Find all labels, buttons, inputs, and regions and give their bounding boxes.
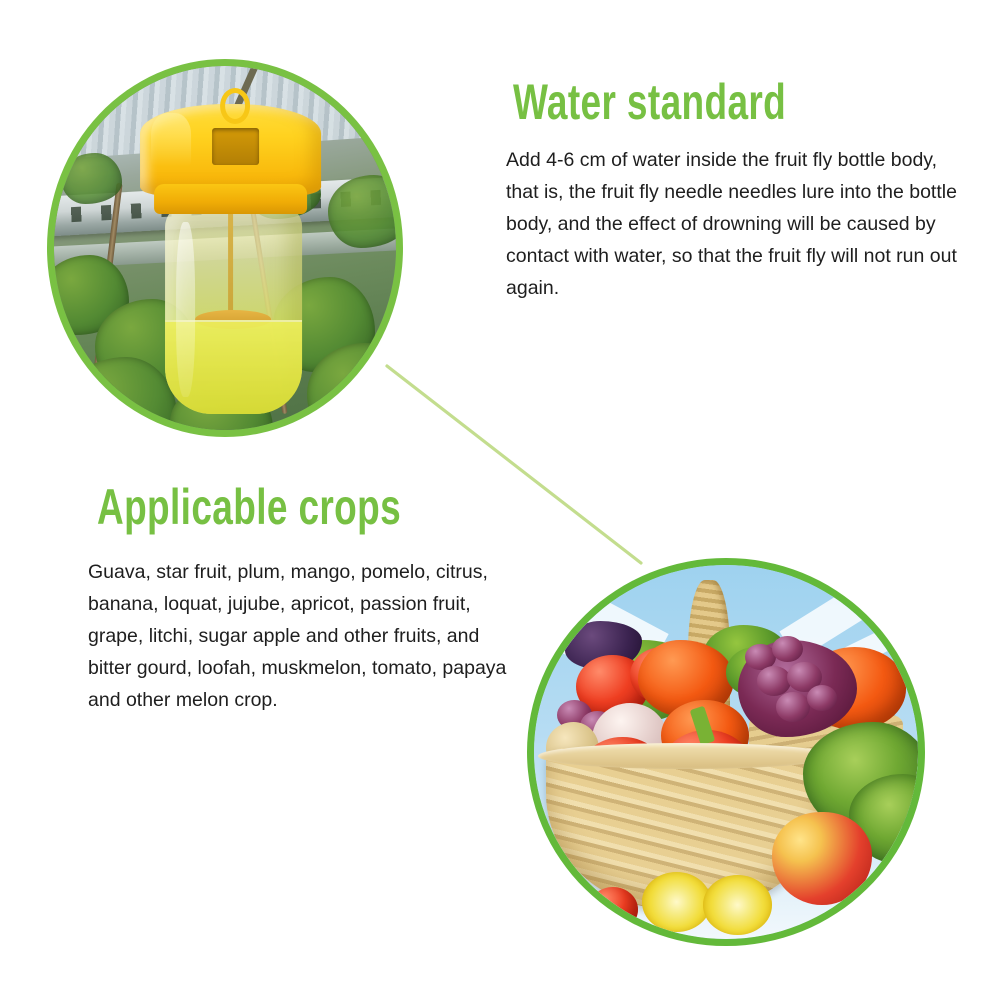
fruit-fly-trap-photo (47, 59, 403, 437)
grape (807, 685, 838, 711)
water-standard-body: Add 4-6 cm of water inside the fruit fly… (506, 144, 968, 304)
grape (757, 666, 792, 696)
trap-entry-slot (212, 128, 259, 165)
trap-cap-ridge (151, 113, 191, 166)
poster-canvas: Water standard Add 4-6 cm of water insid… (0, 0, 1000, 1000)
crops-photo-inner (534, 565, 918, 939)
applicable-crops-heading: Applicable crops (97, 482, 401, 532)
trap-water-level (165, 320, 302, 414)
water-standard-heading: Water standard (513, 77, 786, 127)
fruit-basket-photo (527, 558, 925, 946)
trap-bottle-body (165, 206, 302, 414)
grape (772, 636, 803, 662)
lemon-half (703, 875, 772, 935)
trap-collar (154, 184, 307, 214)
trap-photo-inner (54, 66, 396, 430)
tomato (588, 887, 638, 932)
lure-needle (228, 206, 233, 322)
lemon-half (642, 872, 711, 932)
applicable-crops-body: Guava, star fruit, plum, mango, pomelo, … (88, 556, 520, 716)
basket-rim (538, 743, 834, 769)
